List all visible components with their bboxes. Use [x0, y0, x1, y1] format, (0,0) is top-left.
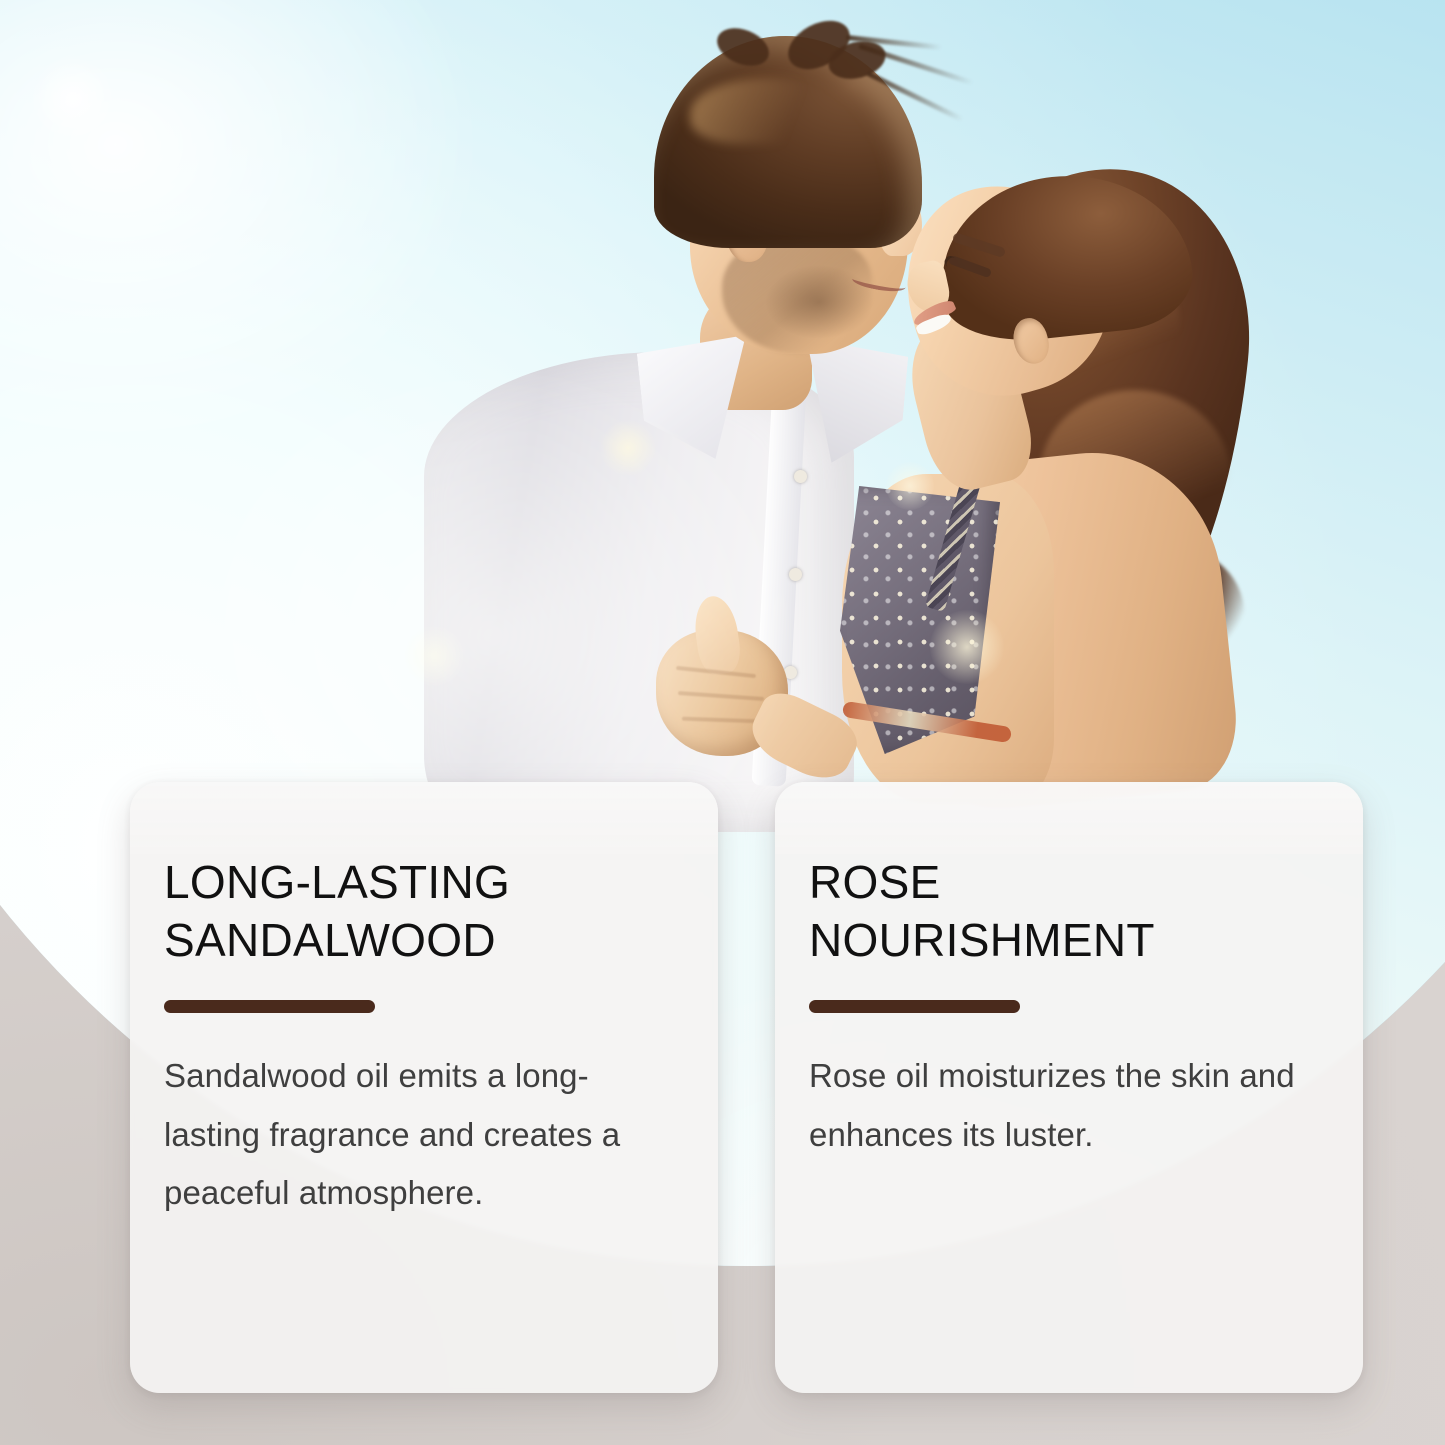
- feature-cards: LONG-LASTING SANDALWOOD Sandalwood oil e…: [0, 0, 1445, 1445]
- feature-card-rose[interactable]: ROSE NOURISHMENT Rose oil moisturizes th…: [775, 782, 1363, 1393]
- accent-divider: [809, 1000, 1020, 1013]
- feature-card-title: LONG-LASTING SANDALWOOD: [164, 854, 674, 970]
- accent-divider: [164, 1000, 375, 1013]
- feature-card-description: Sandalwood oil emits a long-lasting frag…: [164, 1047, 674, 1223]
- feature-card-description: Rose oil moisturizes the skin and enhanc…: [809, 1047, 1319, 1164]
- feature-card-sandalwood[interactable]: LONG-LASTING SANDALWOOD Sandalwood oil e…: [130, 782, 718, 1393]
- product-feature-panel: LONG-LASTING SANDALWOOD Sandalwood oil e…: [0, 0, 1445, 1445]
- feature-card-title: ROSE NOURISHMENT: [809, 854, 1319, 970]
